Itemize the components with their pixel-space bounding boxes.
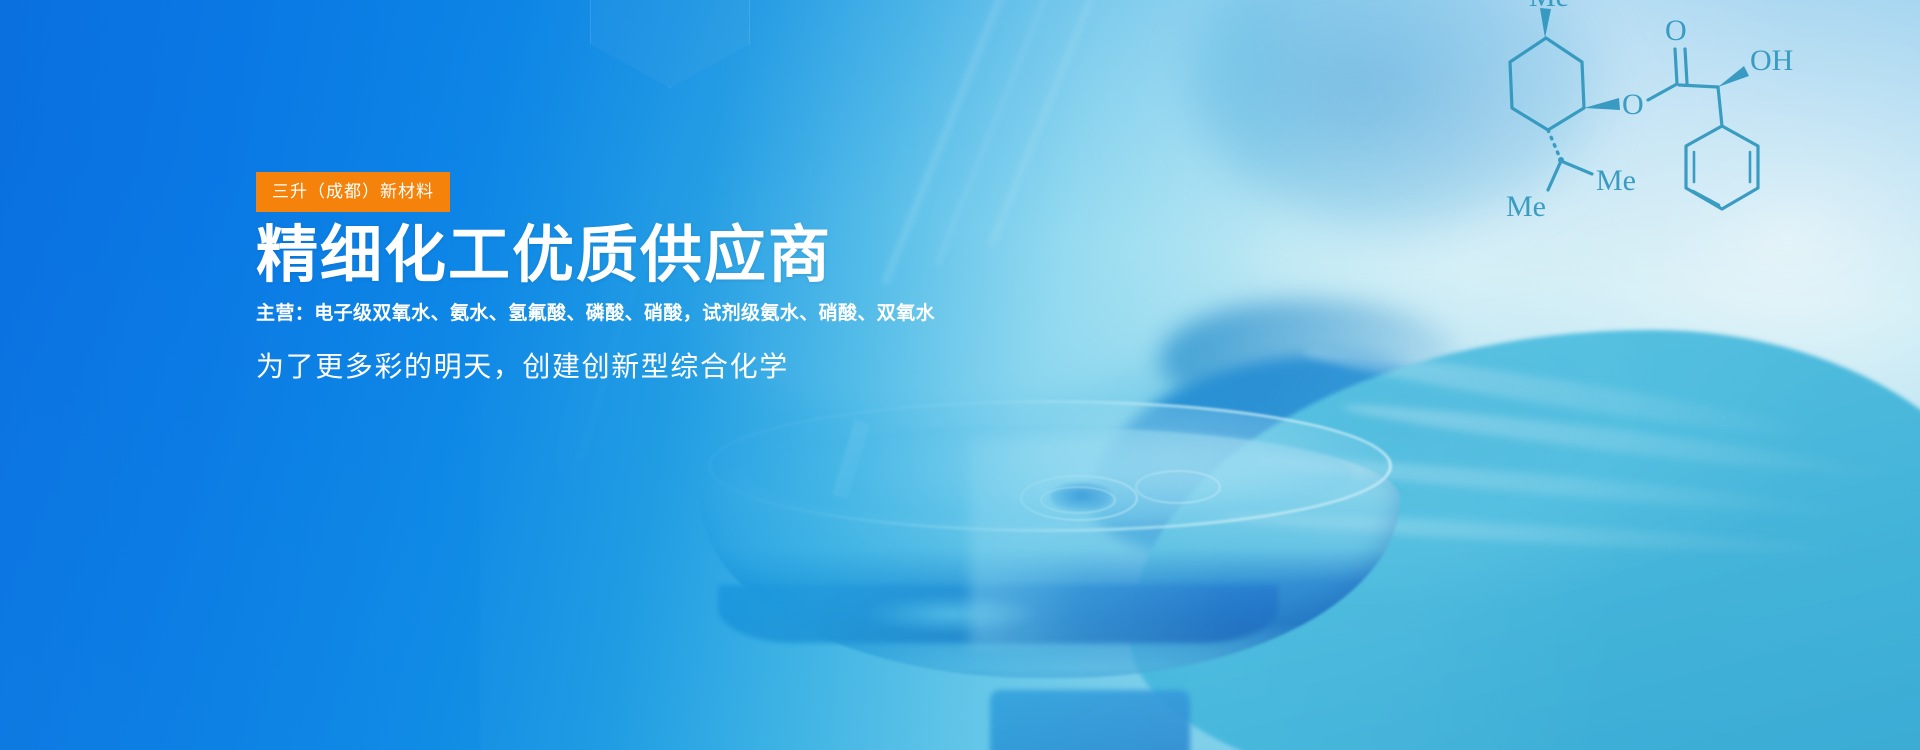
page-title: 精细化工优质供应商 bbox=[256, 224, 1256, 288]
chem-label-isopropyl-left: Me bbox=[1506, 190, 1546, 222]
product-keywords: 主营：电子级双氧水、氨水、氢氟酸、磷酸、硝酸，试剂级氨水、硝酸、双氧水 bbox=[256, 302, 1256, 327]
chemical-structure-icon: Me O OH O Me Me bbox=[1482, 0, 1902, 222]
hero-banner: Me O OH O Me Me 三升（成都）新材料 精细化工优质供应商 主营：电… bbox=[0, 0, 1920, 750]
chem-label-isopropyl-right: Me bbox=[1596, 164, 1636, 197]
company-badge: 三升（成都）新材料 bbox=[256, 172, 450, 212]
chem-label-carbonyl-oxygen: O bbox=[1665, 14, 1687, 47]
chem-label-methyl-top: Me bbox=[1529, 0, 1569, 13]
chem-label-hydroxyl: OH bbox=[1750, 44, 1793, 77]
hero-copy: 三升（成都）新材料 精细化工优质供应商 主营：电子级双氧水、氨水、氢氟酸、磷酸、… bbox=[256, 172, 1256, 386]
company-slogan: 为了更多彩的明天，创建创新型综合化学 bbox=[256, 349, 1256, 385]
chem-label-ester-oxygen: O bbox=[1622, 88, 1644, 121]
